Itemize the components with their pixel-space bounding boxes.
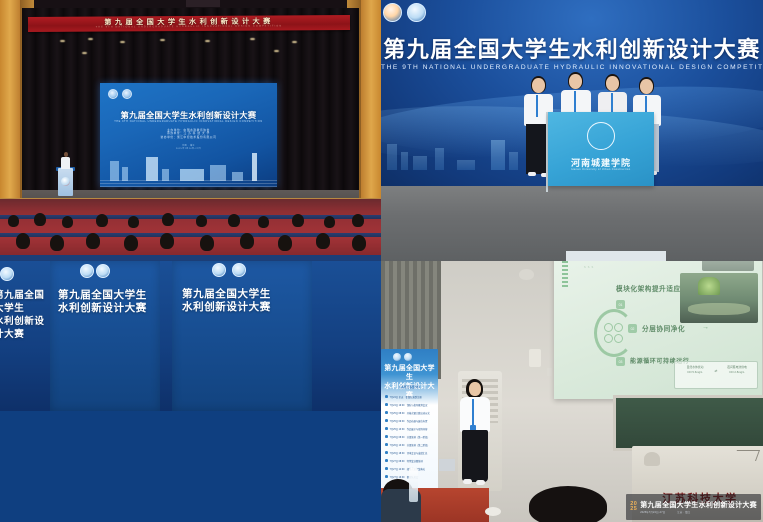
slide-meta-date: 2025年7月24日-27日 xyxy=(100,148,277,151)
audience-head xyxy=(324,216,335,228)
association-logo-icon xyxy=(212,263,226,277)
slide-subtitle: THE 9TH NATIONAL UNDERGRADUATE HYDRAULIC… xyxy=(100,120,277,123)
booth-title-line: 水利创新设计大赛 xyxy=(182,301,310,314)
slide-point-index: 02 xyxy=(628,324,637,333)
comparison-value: DO 5.6mg/L xyxy=(675,370,715,375)
university-logo-icon xyxy=(407,3,426,22)
association-logo-icon xyxy=(80,264,94,278)
audience-head xyxy=(96,214,108,227)
speaker-head xyxy=(64,152,69,157)
schedule-item: 7月26日 18:30 评审会议与成绩汇总 xyxy=(390,451,428,455)
photo-collage: 第九届全国大学生水利创新设计大赛 THE 9TH NATIONAL UNDERG… xyxy=(0,0,763,522)
schedule-item: 7月27日 08:30 特等奖决赛答辩 xyxy=(390,459,423,463)
audience-head xyxy=(240,233,254,249)
ceiling-box xyxy=(186,0,220,7)
wall-left xyxy=(0,0,22,228)
spotlight xyxy=(88,38,93,40)
schedule-item: 7月24日 19:00 领队与指导教师会议 xyxy=(390,403,428,407)
audience-head xyxy=(8,215,19,227)
backdrop-logo-group xyxy=(383,3,426,22)
association-logo-icon xyxy=(383,3,402,22)
audience-head xyxy=(50,235,64,251)
presenter-face xyxy=(469,382,481,396)
bullet-icon xyxy=(385,427,388,430)
slide-point-text: 分层协同净化 xyxy=(642,323,685,333)
wall-switch xyxy=(547,368,552,376)
spotlight xyxy=(120,41,125,43)
watermark-text: 第九届全国大学生水利创新设计大赛 2025年7月24日-27日 江苏 · 镇江 xyxy=(640,500,757,514)
hall-banner-subtitle: THE 9TH NATIONAL UNDERGRADUATE HYDRAULIC… xyxy=(96,26,283,29)
booth-panel-right xyxy=(172,261,312,411)
audience-head xyxy=(258,216,269,228)
booth-title-line: 第九届全国大学生 xyxy=(182,288,310,301)
spotlight xyxy=(82,52,87,54)
slide-comparison-card: 自然水体扰动 DO 5.6mg/L 夜间蓄电池供电 DO 2.8mg/L ⇄ xyxy=(674,361,758,389)
schedule-item: 7月24日 全天 参赛队报到注册 xyxy=(390,395,422,399)
schedule-item: 7月25日 13:30 作品展示与现场问辩 xyxy=(390,427,428,431)
spotlight xyxy=(250,38,255,40)
audience-head xyxy=(124,235,138,251)
photo-watermark: 20 25 第九届全国大学生水利创新设计大赛 2025年7月24日-27日 江苏… xyxy=(626,494,761,520)
booth-title-line: 水利创新设计大赛 xyxy=(58,302,154,315)
photo-defense-presentation: 设计创新点 >>> 01 模块化架构提升适应性 02 分层协同净化 → 03 能… xyxy=(381,261,763,522)
classroom-blackboard xyxy=(613,395,763,451)
water-bottle xyxy=(409,468,418,502)
audience-head xyxy=(86,233,100,249)
organizer-line: 协办单位：浙江中控技术股份有限公司 xyxy=(100,136,277,139)
university-logo-icon xyxy=(404,353,412,361)
audience-head xyxy=(228,214,240,227)
audience-head xyxy=(292,214,304,227)
booth-title-line: 第九届全国大学生 xyxy=(58,289,154,302)
comparison-cell: 自然水体扰动 DO 5.6mg/L xyxy=(675,365,715,375)
audience-head xyxy=(128,216,139,228)
wall-sensor xyxy=(529,349,541,367)
audience-seating xyxy=(0,199,381,261)
slide-organizers: 主办单位：中国水利教育协会 承办单位：江 苏 科 技 大 学 协办单位：浙江中控… xyxy=(100,129,277,139)
slide-skyline-art xyxy=(100,153,277,187)
university-logo-icon xyxy=(232,263,246,277)
rollup-subtitle: （决赛日程安排） xyxy=(381,385,438,389)
ground-floor xyxy=(381,186,763,261)
slide-header: 设计创新点 xyxy=(618,261,641,262)
audience-head xyxy=(200,235,214,251)
wall-right xyxy=(359,0,381,228)
backdrop-title: 第九届全国大学生水利创新设计大赛 xyxy=(381,32,763,64)
bullet-icon xyxy=(385,475,388,478)
bullet-icon xyxy=(385,467,388,470)
spotlight xyxy=(205,40,210,42)
association-logo-icon xyxy=(108,89,118,99)
watermark-title: 第九届全国大学生水利创新设计大赛 xyxy=(640,500,757,510)
bullet-icon xyxy=(385,435,388,438)
school-flag: 河南城建学院 Henan University of Urban Constru… xyxy=(548,112,654,186)
audience-head xyxy=(16,233,30,249)
booth-panel-left-title: 第九届全国大学生 水利创新设计大赛 xyxy=(58,289,154,315)
schedule-item: 7月25日 08:30 开幕式暨大赛启动仪式 xyxy=(390,411,430,415)
schedule-item: 7月25日 09:30 作品布展与展位布置 xyxy=(390,419,428,423)
slide-point-index: 01 xyxy=(616,300,625,309)
presenter-shoe xyxy=(476,480,485,485)
association-logo-icon xyxy=(0,267,14,281)
watermark-meta: 2025年7月24日-27日 江苏 · 镇江 xyxy=(640,510,757,514)
university-logo-icon xyxy=(96,264,110,278)
slide-logo-group xyxy=(108,89,132,99)
audience-head xyxy=(278,235,292,251)
hall-banner: 第九届全国大学生水利创新设计大赛 THE 9TH NATIONAL UNDERG… xyxy=(28,15,350,32)
photo-team-group: 第九届全国大学生水利创新设计大赛 THE 9TH NATIONAL UNDERG… xyxy=(381,0,763,261)
paper-cup xyxy=(485,507,501,516)
comparison-value: DO 2.8mg/L xyxy=(717,370,757,375)
audience-head xyxy=(352,235,366,251)
audience-head xyxy=(316,233,330,249)
bullet-icon xyxy=(385,443,388,446)
slide-image-top xyxy=(702,261,754,271)
association-logo-icon xyxy=(393,353,401,361)
backdrop-subtitle: THE 9TH NATIONAL UNDERGRADUATE HYDRAULIC… xyxy=(381,64,763,71)
comparison-cell: 夜间蓄电池供电 DO 2.8mg/L xyxy=(717,365,757,375)
rollup-logo-group xyxy=(393,353,412,361)
audience-head xyxy=(34,213,46,226)
watermark-year: 20 25 xyxy=(630,502,637,513)
rollup-title-line: 第九届全国大学生 xyxy=(381,364,438,382)
school-flag-name-en: Henan University of Urban Construction xyxy=(548,168,654,171)
presenter-shoe xyxy=(463,479,472,484)
bullet-icon xyxy=(385,419,388,422)
spotlight xyxy=(292,41,297,43)
school-emblem-icon xyxy=(587,122,615,150)
security-camera-icon xyxy=(519,269,534,280)
booth-title-line: 水利创新设计大赛 xyxy=(0,315,54,341)
presenter-lanyard xyxy=(472,399,474,427)
bullet-icon xyxy=(385,403,388,406)
schedule-item: 7月26日 08:30 分组答辩（第一阶段） xyxy=(390,435,430,439)
watermark-location: 江苏 · 镇江 xyxy=(677,510,690,514)
floor-strip xyxy=(566,251,666,261)
stage-projection-screen: 第九届全国大学生水利创新设计大赛 THE 9TH NATIONAL UNDERG… xyxy=(100,83,277,187)
bullet-icon xyxy=(385,451,388,454)
slide-wave-art xyxy=(100,179,277,187)
bullet-icon xyxy=(385,459,388,462)
spotlight xyxy=(274,50,279,52)
booth-panel-edge-title: 第九届全国大学生 水利创新设计大赛 xyxy=(0,289,54,341)
schedule-item: 7月27日 14:00 闭幕式暨颁奖典礼 xyxy=(390,467,425,471)
slide-point-index: 03 xyxy=(616,357,625,366)
audience-head xyxy=(62,216,73,228)
schedule-item: 7月26日 13:30 分组答辩（第二阶段） xyxy=(390,443,430,447)
booth-panel-left xyxy=(50,261,160,411)
university-logo-icon xyxy=(122,89,132,99)
podium xyxy=(58,168,73,196)
slide-meta: 中国 · 镇江 2025年7月24日-27日 xyxy=(100,145,277,151)
presenter-skirt xyxy=(462,430,488,482)
presentation-screen: 设计创新点 >>> 01 模块化架构提升适应性 02 分层协同净化 → 03 能… xyxy=(554,261,762,399)
slide-image-main xyxy=(680,273,758,323)
speaker-body xyxy=(61,157,70,169)
booth-panel-right-title: 第九届全国大学生 水利创新设计大赛 xyxy=(182,288,310,314)
watermark-date: 2025年7月24日-27日 xyxy=(640,510,665,514)
floor-box xyxy=(439,459,455,471)
slide-point-text: 模块化架构提升适应性 xyxy=(616,283,688,293)
photo-exhibition-booth: 第九届全国大学生 水利创新设计大赛 第九届全国大学生 水利创新设计大赛 第九届全… xyxy=(0,261,381,522)
spotlight xyxy=(60,40,65,42)
audience-head xyxy=(529,486,607,522)
booth-title-line: 第九届全国大学生 xyxy=(0,289,54,315)
photo-opening-ceremony: 第九届全国大学生水利创新设计大赛 THE 9TH NATIONAL UNDERG… xyxy=(0,0,381,261)
audience-head xyxy=(162,213,174,226)
audience-head xyxy=(352,214,364,227)
bullet-icon xyxy=(385,395,388,398)
bullet-icon xyxy=(385,411,388,414)
audience-head xyxy=(160,233,174,249)
audience-head xyxy=(196,215,207,227)
spotlight xyxy=(160,39,165,41)
